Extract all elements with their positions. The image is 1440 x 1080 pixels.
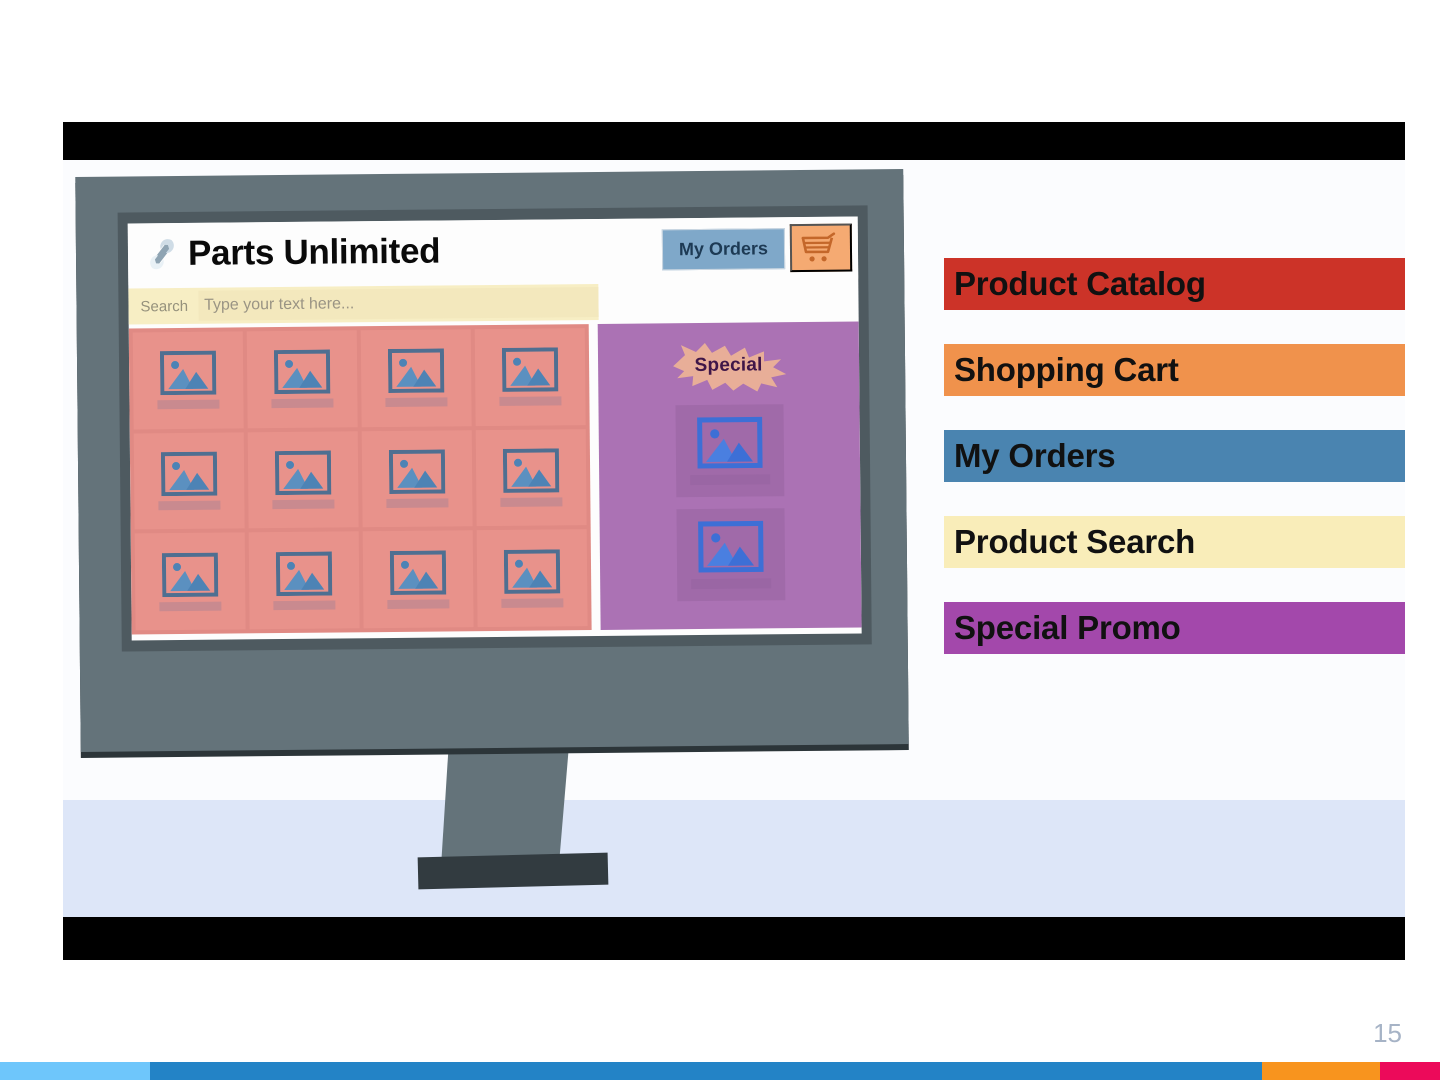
image-placeholder-icon xyxy=(504,549,560,594)
tile-caption xyxy=(385,398,447,408)
promo-card[interactable] xyxy=(676,508,785,601)
floor-band xyxy=(63,800,1405,917)
tile-caption xyxy=(499,397,561,407)
image-placeholder-icon xyxy=(503,448,559,493)
image-placeholder-icon xyxy=(388,349,444,394)
product-catalog-grid xyxy=(129,324,592,634)
image-placeholder-icon xyxy=(160,351,216,396)
my-orders-button[interactable]: My Orders xyxy=(662,228,785,270)
tile-caption xyxy=(158,501,220,511)
product-tile[interactable] xyxy=(135,533,246,631)
strip-segment-blue xyxy=(150,1062,1262,1080)
product-tile[interactable] xyxy=(363,531,474,629)
header-spacer xyxy=(440,249,662,251)
monitor-screen: Parts Unlimited My Orders Search xyxy=(128,216,862,640)
product-tile[interactable] xyxy=(249,532,360,630)
image-placeholder-icon xyxy=(390,550,446,595)
image-placeholder-icon xyxy=(502,348,558,393)
product-tile[interactable] xyxy=(248,431,359,529)
product-tile[interactable] xyxy=(362,430,473,528)
tile-caption xyxy=(501,598,563,608)
legend-item-product-search[interactable]: Product Search xyxy=(944,516,1405,568)
slide-letterbox-top xyxy=(63,122,1405,160)
strip-segment-pink xyxy=(1380,1062,1440,1080)
monitor-stand-base xyxy=(418,853,609,890)
special-promo-panel: Special xyxy=(598,321,862,629)
image-placeholder-icon xyxy=(276,551,332,596)
promo-caption xyxy=(691,578,771,589)
strip-segment-light-blue xyxy=(0,1062,150,1080)
tile-caption xyxy=(272,499,334,509)
tile-caption xyxy=(157,400,219,410)
product-tile[interactable] xyxy=(475,328,586,426)
legend-item-shopping-cart[interactable]: Shopping Cart xyxy=(944,344,1405,396)
tile-caption xyxy=(387,599,449,609)
legend-label: Shopping Cart xyxy=(954,351,1179,389)
product-tile[interactable] xyxy=(476,429,587,527)
tile-caption xyxy=(386,498,448,508)
promo-card[interactable] xyxy=(675,404,784,497)
page-number: 15 xyxy=(1373,1018,1402,1049)
image-placeholder-icon xyxy=(697,520,763,573)
brand-title: Parts Unlimited xyxy=(188,231,441,273)
slide-letterbox-bottom xyxy=(63,917,1405,960)
product-tile[interactable] xyxy=(247,330,358,428)
monitor-stand-neck xyxy=(441,745,569,867)
legend-list: Product Catalog Shopping Cart My Orders … xyxy=(944,258,1405,654)
special-badge-label: Special xyxy=(695,354,763,377)
image-placeholder-icon xyxy=(275,451,331,496)
wrench-icon xyxy=(142,234,182,274)
search-bar: Search xyxy=(128,284,598,325)
footer-color-strip xyxy=(0,1062,1440,1080)
tile-caption xyxy=(273,600,335,610)
legend-item-my-orders[interactable]: My Orders xyxy=(944,430,1405,482)
tile-caption xyxy=(271,399,333,409)
search-label: Search xyxy=(140,297,188,314)
product-tile[interactable] xyxy=(134,432,245,530)
shopping-cart-icon xyxy=(801,232,841,264)
product-tile[interactable] xyxy=(477,529,588,627)
legend-item-special-promo[interactable]: Special Promo xyxy=(944,602,1405,654)
search-input[interactable] xyxy=(198,287,599,321)
product-tile[interactable] xyxy=(361,329,472,427)
image-placeholder-icon xyxy=(389,449,445,494)
promo-caption xyxy=(690,474,770,485)
special-badge: Special xyxy=(664,338,793,393)
monitor-mockup: Parts Unlimited My Orders Search xyxy=(75,169,908,752)
image-placeholder-icon xyxy=(161,452,217,497)
legend-label: Special Promo xyxy=(954,609,1181,647)
product-tile[interactable] xyxy=(133,331,244,429)
tile-caption xyxy=(159,601,221,611)
image-placeholder-icon xyxy=(162,552,218,597)
strip-segment-orange xyxy=(1262,1062,1380,1080)
tile-caption xyxy=(500,497,562,507)
legend-label: My Orders xyxy=(954,437,1115,475)
image-placeholder-icon xyxy=(274,350,330,395)
legend-label: Product Search xyxy=(954,523,1195,561)
image-placeholder-icon xyxy=(696,416,762,469)
legend-item-product-catalog[interactable]: Product Catalog xyxy=(944,258,1405,310)
legend-label: Product Catalog xyxy=(954,265,1206,303)
site-body: Special xyxy=(129,321,862,640)
shopping-cart-button[interactable] xyxy=(790,224,852,273)
site-header: Parts Unlimited My Orders xyxy=(128,216,859,285)
